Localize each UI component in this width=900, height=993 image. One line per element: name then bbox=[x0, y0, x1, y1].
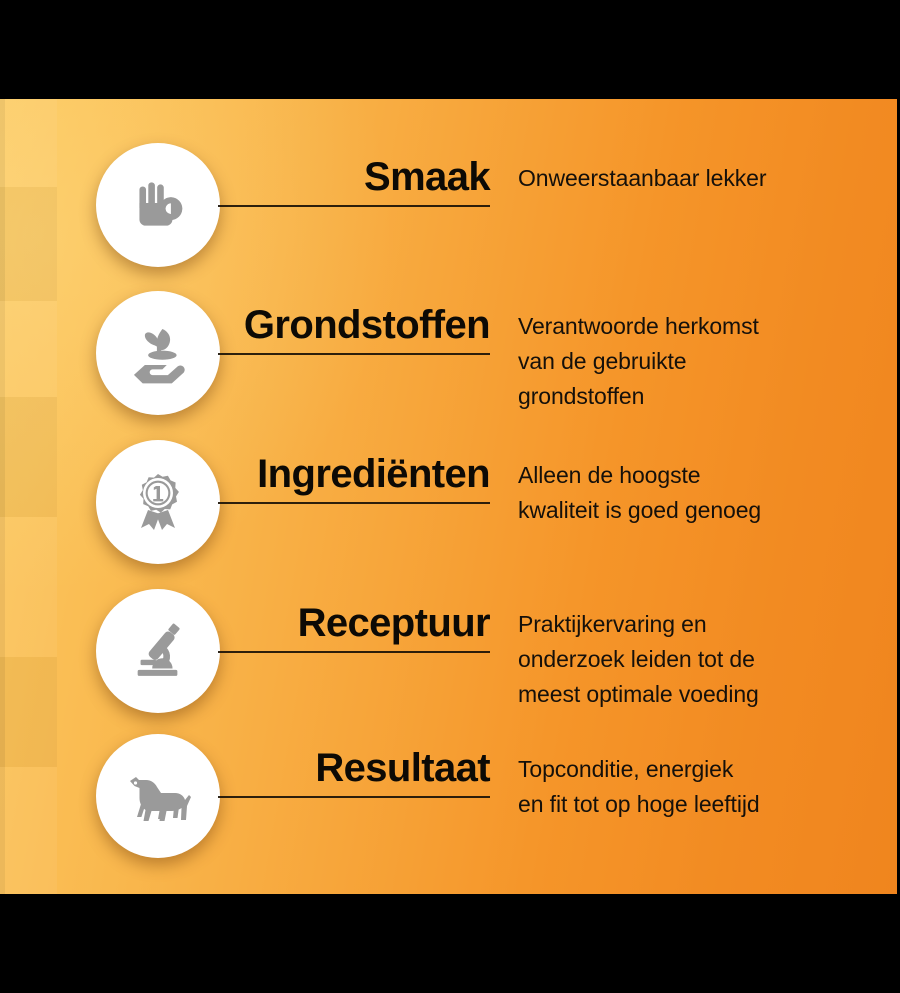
row-description: Onweerstaanbaar lekker bbox=[518, 161, 848, 196]
award-rosette-number-one-icon bbox=[126, 470, 190, 534]
edge-band bbox=[0, 767, 57, 894]
edge-band bbox=[0, 99, 57, 187]
description-line: Topconditie, energiek bbox=[518, 752, 848, 787]
description-line: Onweerstaanbaar lekker bbox=[518, 161, 848, 196]
heading-underline bbox=[218, 353, 490, 355]
description-line: onderzoek leiden tot de bbox=[518, 642, 848, 677]
hand-holding-sprout-icon bbox=[123, 318, 193, 388]
row-description: Praktijkervaring en onderzoek leiden tot… bbox=[518, 607, 848, 712]
description-line: kwaliteit is goed genoeg bbox=[518, 493, 848, 528]
edge-band bbox=[0, 397, 57, 517]
description-line: Alleen de hoogste bbox=[518, 458, 848, 493]
row-description: Verantwoorde herkomst van de gebruikte g… bbox=[518, 309, 848, 414]
row-heading: Smaak bbox=[200, 155, 490, 200]
description-line: en fit tot op hoge leeftijd bbox=[518, 787, 848, 822]
heading-underline bbox=[218, 651, 490, 653]
description-line: van de gebruikte bbox=[518, 344, 848, 379]
row-heading: Grondstoffen bbox=[200, 303, 490, 348]
description-line: meest optimale voeding bbox=[518, 677, 848, 712]
hand-ok-gesture-icon bbox=[125, 172, 191, 238]
row-heading: Receptuur bbox=[200, 601, 490, 646]
panel-left-edge-strip bbox=[0, 99, 5, 894]
orange-panel: Smaak Onweerstaanbaar lekker G bbox=[0, 99, 897, 894]
infographic-stage: Smaak Onweerstaanbaar lekker G bbox=[0, 0, 900, 993]
row-description: Alleen de hoogste kwaliteit is goed geno… bbox=[518, 458, 848, 528]
description-line: Verantwoorde herkomst bbox=[518, 309, 848, 344]
microscope-icon bbox=[127, 620, 189, 682]
edge-band bbox=[0, 301, 57, 397]
row-heading: Ingrediënten bbox=[200, 452, 490, 497]
dog-silhouette-icon bbox=[122, 760, 194, 832]
row-description: Topconditie, energiek en fit tot op hoge… bbox=[518, 752, 848, 822]
edge-band bbox=[0, 657, 57, 767]
description-line: grondstoffen bbox=[518, 379, 848, 414]
edge-band bbox=[0, 187, 57, 301]
description-line: Praktijkervaring en bbox=[518, 607, 848, 642]
heading-underline bbox=[218, 796, 490, 798]
heading-underline bbox=[218, 205, 490, 207]
edge-band bbox=[0, 517, 57, 657]
row-heading: Resultaat bbox=[200, 746, 490, 791]
heading-underline bbox=[218, 502, 490, 504]
